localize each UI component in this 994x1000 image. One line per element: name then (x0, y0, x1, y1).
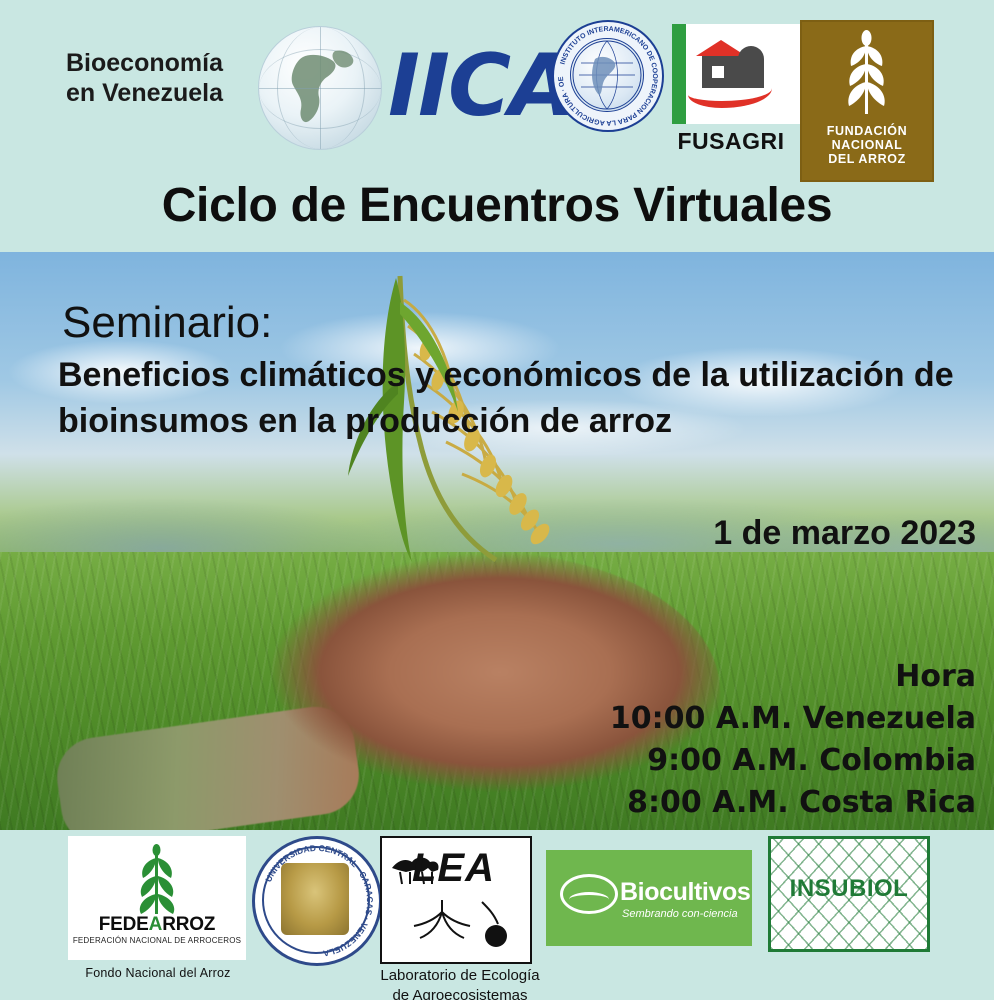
fedearroz-part1: FEDE (99, 914, 149, 935)
fedearroz-subtitle: FEDERACIÓN NACIONAL DE ARROCEROS (68, 936, 246, 945)
sponsor-fedearroz: FEDEARROZ FEDERACIÓN NACIONAL DE ARROCER… (68, 836, 246, 960)
insubiol-logo-box: INSUBIOL (768, 836, 930, 952)
fedearroz-fund-label: Fondo Nacional del Arroz (58, 966, 258, 980)
seminar-title-line2: bioinsumos en la producción de arroz (58, 398, 978, 444)
time-costarica: 8:00 A.M. Costa Rica (610, 782, 976, 824)
sponsor-ucv: UNIVERSIDAD CENTRAL · CARACAS · VENEZUEL… (252, 836, 376, 960)
fedearroz-wordmark: FEDEARROZ (68, 914, 246, 936)
bioeconomia-wordmark: Bioeconomía en Venezuela (66, 48, 266, 108)
iica-seal-icon: INSTITUTO INTERAMERICANO DE COOPERACION … (552, 20, 660, 128)
fusagri-label: FUSAGRI (672, 128, 790, 155)
arroz-line3: DEL ARROZ (802, 152, 932, 166)
sponsor-biocultivos: Biocultivos Sembrando con-ciencia (546, 850, 752, 946)
time-colombia: 9:00 A.M. Colombia (610, 740, 976, 782)
lea-logo-box: LEA (380, 836, 532, 964)
fedearroz-plant-icon (121, 844, 193, 923)
seminar-title-line1: Beneficios climáticos y económicos de la… (58, 352, 978, 398)
bioeconomia-line1: Bioeconomía (66, 48, 266, 78)
lea-wordmark: LEA (412, 846, 495, 891)
biocultivos-wordmark: Biocultivos (620, 878, 750, 907)
time-venezuela: 10:00 A.M. Venezuela (610, 698, 976, 740)
lea-caption-line1: Laboratorio de Ecología (350, 966, 570, 986)
seminar-label: Seminario: (62, 298, 272, 348)
header-band: Bioeconomía en Venezuela IICA (0, 0, 994, 252)
event-date: 1 de marzo 2023 (713, 514, 976, 553)
poster: Bioeconomía en Venezuela IICA (0, 0, 994, 1000)
rice-plant-icon (821, 30, 913, 122)
fedearroz-part3: RROZ (162, 914, 215, 935)
lea-caption: Laboratorio de Ecología de Agroecosistem… (350, 966, 570, 1000)
fundacion-arroz-logo: FUNDACIÓN NACIONAL DEL ARROZ (800, 20, 934, 182)
svg-text:UNIVERSIDAD CENTRAL · CARACAS: UNIVERSIDAD CENTRAL · CARACAS · VENEZUEL… (263, 843, 375, 959)
lea-caption-line2: de Agroecosistemas (350, 986, 570, 1000)
ucv-seal-icon: UNIVERSIDAD CENTRAL · CARACAS · VENEZUEL… (252, 836, 382, 966)
time-heading: Hora (610, 656, 976, 698)
svg-text:INSTITUTO INTERAMERICANO DE CO: INSTITUTO INTERAMERICANO DE COOPERACION … (554, 22, 658, 126)
arroz-line2: NACIONAL (802, 138, 932, 152)
iica-wordmark: IICA (388, 38, 574, 134)
bioeconomia-line2: en Venezuela (66, 78, 266, 108)
arroz-line1: FUNDACIÓN (802, 124, 932, 138)
fusagri-badge-icon (672, 24, 818, 124)
leaf-icon (560, 874, 618, 914)
seminar-title: Beneficios climáticos y económicos de la… (58, 352, 978, 444)
biocultivos-tagline: Sembrando con-ciencia (622, 908, 738, 920)
fusagri-logo: FUSAGRI (672, 24, 790, 155)
sponsor-insubiol: INSUBIOL (768, 836, 924, 946)
insubiol-wordmark: INSUBIOL (771, 875, 927, 903)
page-title: Ciclo de Encuentros Virtuales (0, 178, 994, 233)
logo-row: Bioeconomía en Venezuela IICA (0, 6, 994, 176)
time-block: Hora 10:00 A.M. Venezuela 9:00 A.M. Colo… (610, 656, 976, 824)
sponsor-band: FEDEARROZ FEDERACIÓN NACIONAL DE ARROCER… (0, 830, 994, 1000)
globe-icon (258, 26, 380, 148)
sponsor-lea: LEA (380, 836, 528, 960)
fedearroz-part2: A (149, 914, 163, 935)
hero-photo: Seminario: Beneficios climáticos y econó… (0, 252, 994, 830)
